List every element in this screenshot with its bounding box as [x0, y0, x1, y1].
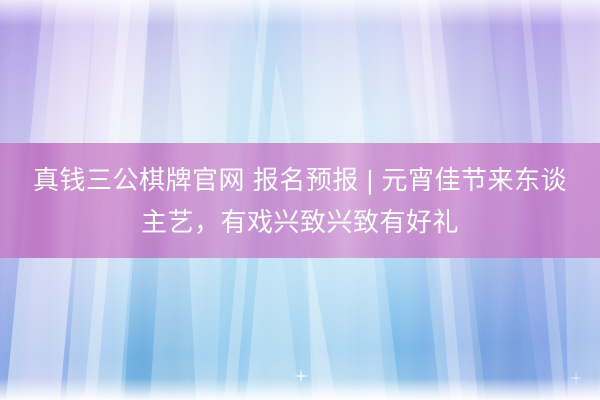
headline-text: 真钱三公棋牌官网 报名预报 | 元宵佳节来东谈 主艺，有戏兴致兴致有好礼	[20, 159, 580, 243]
sparkle-icon-secondary	[568, 370, 584, 386]
top-fade-overlay	[0, 0, 600, 26]
promo-banner: 真钱三公棋牌官网 报名预报 | 元宵佳节来东谈 主艺，有戏兴致兴致有好礼	[0, 0, 600, 400]
headline-line-2: 主艺，有戏兴致兴致有好礼	[20, 201, 580, 243]
headline-line-1: 真钱三公棋牌官网 报名预报 | 元宵佳节来东谈	[33, 165, 567, 195]
sparkle-icon	[293, 368, 309, 384]
headline-band: 真钱三公棋牌官网 报名预报 | 元宵佳节来东谈 主艺，有戏兴致兴致有好礼	[0, 143, 600, 258]
